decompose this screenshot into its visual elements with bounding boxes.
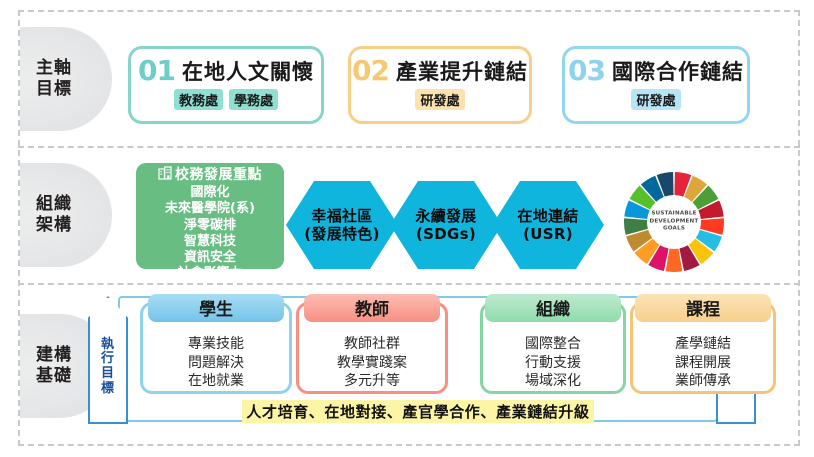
row-divider-1 xyxy=(18,146,800,148)
goal-tag: 研發處 xyxy=(415,89,464,110)
goal-card-02[interactable]: 02 產業提升鏈結 研發處 xyxy=(348,46,532,124)
development-item: 智慧科技 xyxy=(184,234,236,249)
goal-header: 01 在地人文關懷 xyxy=(131,49,321,93)
row-label-text: 建構基礎 xyxy=(32,345,76,386)
pillar-item: 在地就業 xyxy=(143,372,289,391)
development-item: 淨零碳排 xyxy=(184,218,236,233)
pillar-item: 教學實踐案 xyxy=(299,354,445,373)
pillar-items: 產學鏈結 課程開展 業師傳承 xyxy=(633,335,773,391)
pillar-item: 國際整合 xyxy=(483,335,623,354)
row-label-text: 組織架構 xyxy=(32,194,76,235)
hexagon-line-2: (SDGs) xyxy=(416,225,476,243)
goal-number: 02 xyxy=(352,57,389,85)
pillar-items: 教師社群 教學實踐案 多元升等 xyxy=(299,335,445,391)
goal-tag-list: 教務處 學務處 xyxy=(131,89,321,110)
row-divider-2 xyxy=(18,283,800,285)
hexagon-local-connection[interactable]: 在地連結 (USR) xyxy=(492,181,604,269)
hexagon-line-2: (發展特色) xyxy=(304,225,380,243)
goal-header: 03 國際合作鏈結 xyxy=(565,49,747,93)
goal-title: 在地人文關懷 xyxy=(182,56,314,86)
pillar-item: 教師社群 xyxy=(299,335,445,354)
goal-title: 產業提升鏈結 xyxy=(396,56,528,86)
goal-number: 03 xyxy=(568,57,605,85)
pillar-card-organization[interactable]: 組織 國際整合 行動支援 場域深化 xyxy=(480,302,626,394)
sdg-center-line-1: SUSTAINABLE xyxy=(647,211,701,219)
pillar-card-teacher[interactable]: 教師 教師社群 教學實踐案 多元升等 xyxy=(296,302,448,394)
hexagon-sustainable-development[interactable]: 永續發展 (SDGs) xyxy=(390,181,502,269)
goal-header: 02 產業提升鏈結 xyxy=(351,49,529,93)
row-label-text: 主軸目標 xyxy=(32,58,76,99)
goal-title: 國際合作鏈結 xyxy=(612,56,744,86)
hexagon-line-1: 在地連結 xyxy=(517,207,578,225)
pillar-title: 學生 xyxy=(148,294,284,322)
hexagon-happy-community[interactable]: 幸福社區 (發展特色) xyxy=(286,181,398,269)
pillar-item: 產學鏈結 xyxy=(633,335,773,354)
building-icon xyxy=(158,166,172,184)
pillar-items: 國際整合 行動支援 場域深化 xyxy=(483,335,623,391)
arrow-label: 執行目標 xyxy=(99,338,117,396)
pillar-item: 行動支援 xyxy=(483,354,623,373)
sdg-center-text: SUSTAINABLE DEVELOPMENT GOALS xyxy=(647,211,701,234)
development-heading-text: 校務發展重點 xyxy=(175,168,262,183)
hexagon-row: 幸福社區 (發展特色) 永續發展 (SDGs) 在地連結 (USR) xyxy=(286,181,604,269)
hexagon-line-1: 幸福社區 xyxy=(311,207,372,225)
pillar-item: 業師傳承 xyxy=(633,372,773,391)
goal-tag: 教務處 xyxy=(174,89,223,110)
goal-tag: 研發處 xyxy=(631,89,680,110)
pillar-item: 多元升等 xyxy=(299,372,445,391)
pillar-title: 課程 xyxy=(635,294,771,322)
pillar-item: 場域深化 xyxy=(483,372,623,391)
row-label-main-goals: 主軸目標 xyxy=(20,18,112,140)
development-focus-box[interactable]: 校務發展重點 國際化 未來醫學院(系) 淨零碳排 智慧科技 資訊安全 社會影響力 xyxy=(136,163,284,269)
development-heading: 校務發展重點 xyxy=(158,166,262,184)
pillar-card-student[interactable]: 學生 專業技能 問題解決 在地就業 xyxy=(140,302,292,394)
development-item: 社會影響力 xyxy=(177,266,242,281)
pillar-title: 教師 xyxy=(304,294,440,322)
goal-tag: 學務處 xyxy=(229,89,278,110)
hexagon-line-2: (USR) xyxy=(523,225,573,243)
development-item: 未來醫學院(系) xyxy=(165,201,255,216)
pillar-item: 課程開展 xyxy=(633,354,773,373)
bottom-banner-text: 人才培育、在地對接、產官學合作、產業鏈結升級 xyxy=(242,400,593,423)
development-item: 國際化 xyxy=(190,185,229,200)
pillar-item: 專業技能 xyxy=(143,335,289,354)
sdg-center-line-2: DEVELOPMENT xyxy=(647,218,701,226)
goal-tag-list: 研發處 xyxy=(565,89,747,110)
bottom-banner: 人才培育、在地對接、產官學合作、產業鏈結升級 xyxy=(120,400,716,422)
sdg-wheel-logo: SUSTAINABLE DEVELOPMENT GOALS xyxy=(622,170,726,274)
pillar-item: 問題解決 xyxy=(143,354,289,373)
row-label-org-structure: 組織架構 xyxy=(20,154,112,276)
sdg-center-line-3: GOALS xyxy=(647,226,701,234)
hexagon-line-1: 永續發展 xyxy=(415,207,476,225)
development-item: 資訊安全 xyxy=(184,250,236,265)
pillar-title: 組織 xyxy=(485,294,621,322)
goal-card-03[interactable]: 03 國際合作鏈結 研發處 xyxy=(562,46,750,124)
goal-tag-list: 研發處 xyxy=(351,89,529,110)
goal-number: 01 xyxy=(138,57,175,85)
goal-card-01[interactable]: 01 在地人文關懷 教務處 學務處 xyxy=(128,46,324,124)
pillar-card-curriculum[interactable]: 課程 產學鏈結 課程開展 業師傳承 xyxy=(630,302,776,394)
pillar-items: 專業技能 問題解決 在地就業 xyxy=(143,335,289,391)
diagram-canvas: 主軸目標 組織架構 建構基礎 01 在地人文關懷 教務處 學務處 02 產業提升… xyxy=(0,0,814,457)
